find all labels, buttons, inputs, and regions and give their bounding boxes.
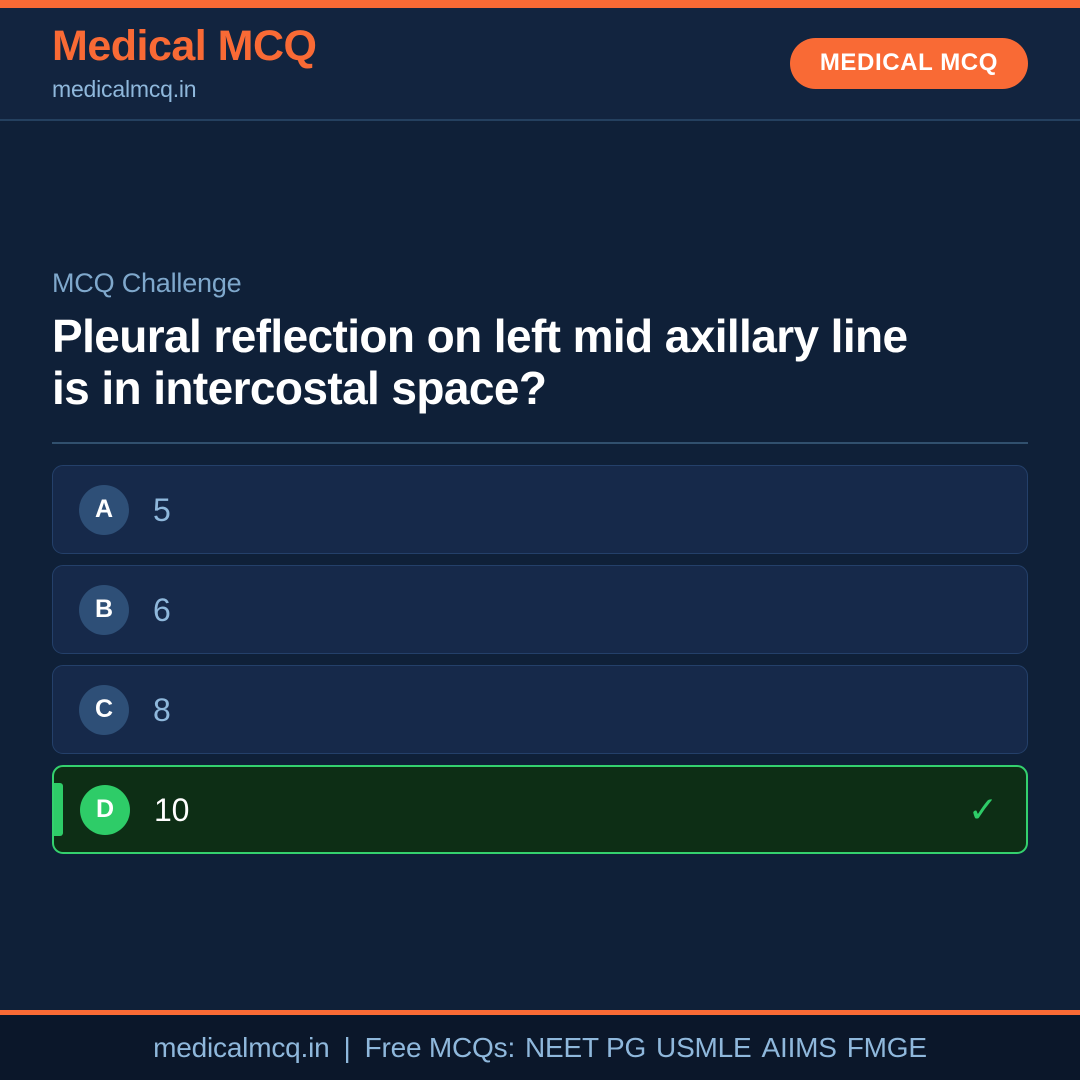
options-list: A 5 ✓ B 6 ✓ C 8 ✓ D 10 ✓ [52,465,1028,854]
option-row-d[interactable]: D 10 ✓ [52,765,1028,854]
mcq-card: Medical MCQ medicalmcq.in MEDICAL MCQ MC… [0,0,1080,1080]
brand-title: Medical MCQ [52,25,317,68]
option-letter-badge: A [79,485,129,535]
header-badge: MEDICAL MCQ [790,38,1028,89]
option-row-b[interactable]: B 6 ✓ [52,565,1028,654]
footer-tag-neetpg: NEET PG [515,1032,646,1063]
question-text: Pleural reflection on left mid axillary … [52,311,952,414]
option-text: 5 [153,494,171,526]
brand-block: Medical MCQ medicalmcq.in [52,25,317,101]
footer-tag-aiims: AIIMS [752,1032,837,1063]
footer-tag-usmle: USMLE [646,1032,751,1063]
check-icon: ✓ [968,792,998,828]
footer-separator: | [329,1032,364,1063]
option-text: 6 [153,594,171,626]
page-header: Medical MCQ medicalmcq.in MEDICAL MCQ [0,8,1080,121]
top-accent-bar [0,0,1080,8]
question-zone: MCQ Challenge Pleural reflection on left… [52,269,1028,444]
option-text: 10 [154,794,189,826]
main-content: MCQ Challenge Pleural reflection on left… [0,121,1080,1010]
page-footer: medicalmcq.in|Free MCQs:NEET PGUSMLEAIIM… [0,1010,1080,1080]
footer-tag-fmge: FMGE [837,1032,927,1063]
option-row-a[interactable]: A 5 ✓ [52,465,1028,554]
brand-url: medicalmcq.in [52,78,317,101]
option-letter-badge: C [79,685,129,735]
option-row-c[interactable]: C 8 ✓ [52,665,1028,754]
footer-text: medicalmcq.in|Free MCQs:NEET PGUSMLEAIIM… [153,1034,927,1062]
option-text: 8 [153,694,171,726]
footer-site: medicalmcq.in [153,1032,329,1063]
kicker-label: MCQ Challenge [52,269,1028,297]
footer-label: Free MCQs: [365,1032,515,1063]
option-letter-badge: B [79,585,129,635]
option-letter-badge: D [80,785,130,835]
question-divider [52,442,1028,444]
correct-accent-bar [54,783,63,836]
